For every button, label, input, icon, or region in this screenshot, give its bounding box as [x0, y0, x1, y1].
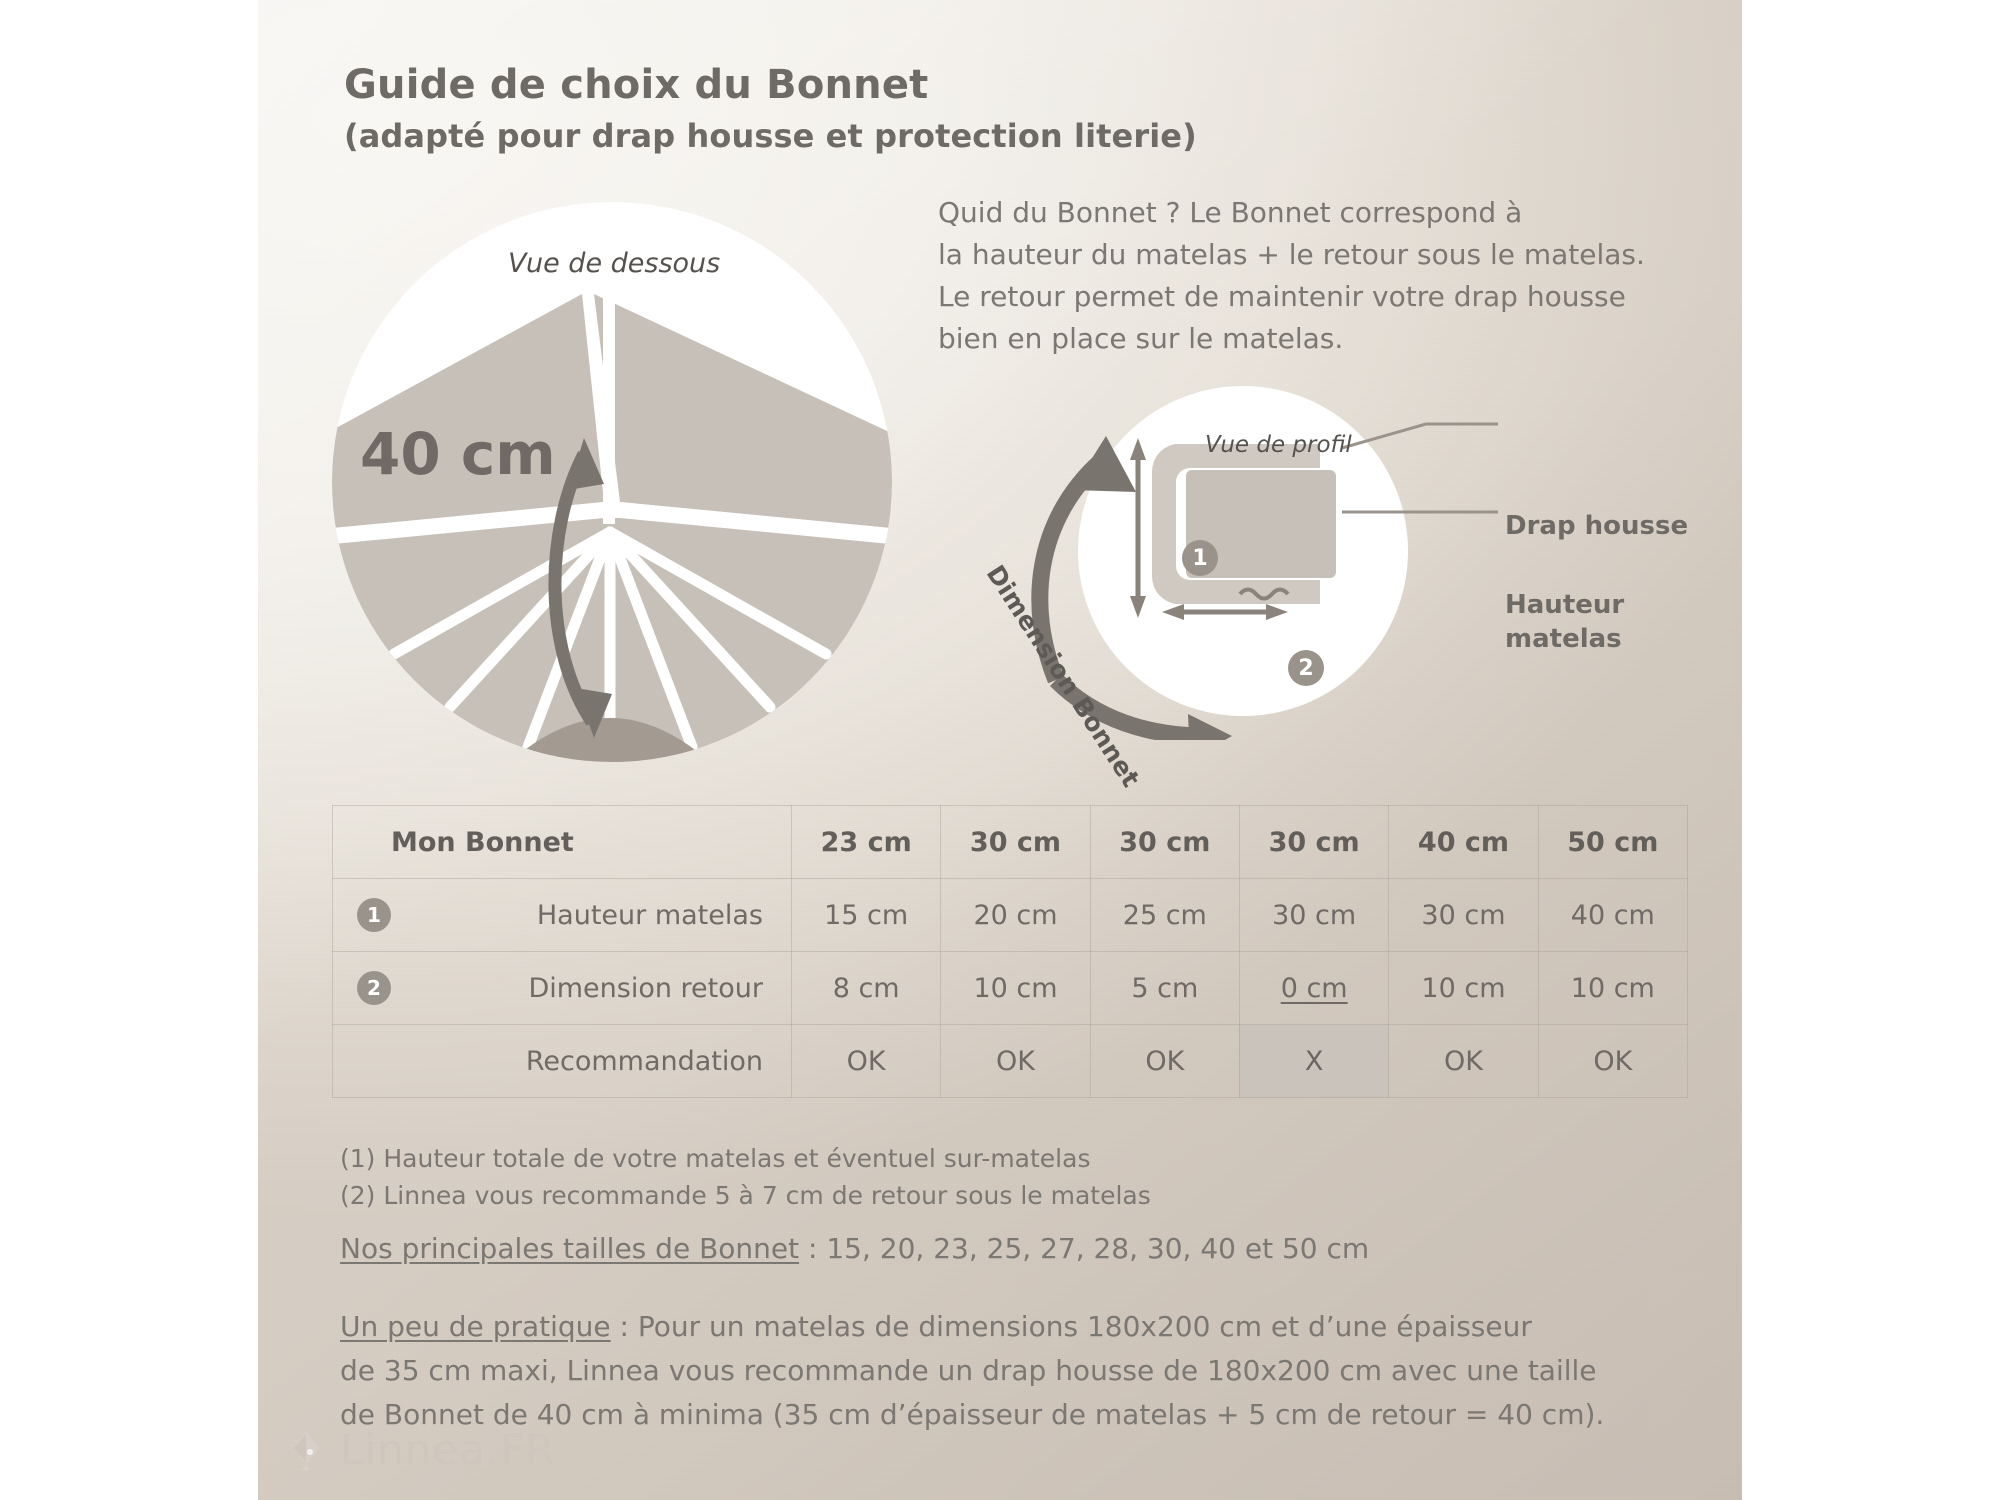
- sizes-line: Nos principales tailles de Bonnet : 15, …: [340, 1232, 1369, 1265]
- label-hauteur-line-2: matelas: [1505, 622, 1624, 656]
- profile-view-caption: Vue de profil: [1205, 432, 1352, 458]
- practice-label: Un peu de pratique: [340, 1310, 611, 1343]
- practice-block: Un peu de pratique : Pour un matelas de …: [340, 1305, 1604, 1437]
- table-cell: OK: [1538, 1025, 1687, 1098]
- table-cell: 30 cm: [1239, 879, 1388, 952]
- table-header-label: Mon Bonnet: [333, 806, 792, 879]
- table-cell: 30 cm: [1389, 879, 1538, 952]
- intro-line-3: Le retour permet de maintenir votre drap…: [938, 276, 1678, 318]
- page-title: Guide de choix du Bonnet: [344, 62, 929, 108]
- table-header-cell: 30 cm: [941, 806, 1090, 879]
- linnea-logo[interactable]: Linnea.FR: [286, 1425, 556, 1474]
- letterbox-left: [0, 0, 258, 1500]
- footnotes: (1) Hauteur totale de votre matelas et é…: [340, 1140, 1151, 1214]
- intro-line-2: la hauteur du matelas + le retour sous l…: [938, 234, 1678, 276]
- page-subtitle: (adapté pour drap housse et protection l…: [344, 117, 1197, 155]
- badge-1-profile: 1: [1182, 540, 1218, 576]
- practice-line-1: Un peu de pratique : Pour un matelas de …: [340, 1305, 1604, 1349]
- label-hauteur-line-1: Hauteur: [1505, 588, 1624, 622]
- footnote-2: (2) Linnea vous recommande 5 à 7 cm de r…: [340, 1177, 1151, 1214]
- bottom-view-caption: Vue de dessous: [508, 248, 720, 279]
- infographic-page: Guide de choix du Bonnet (adapté pour dr…: [0, 0, 2000, 1500]
- table-cell-highlighted: X: [1239, 1025, 1388, 1098]
- mattress-height-arrow: [1130, 438, 1146, 618]
- label-drap-housse: Drap housse: [1505, 509, 1688, 543]
- table-cell: 10 cm: [941, 952, 1090, 1025]
- intro-line-1: Quid du Bonnet ? Le Bonnet correspond à: [938, 192, 1678, 234]
- table-row: 2 Dimension retour 8 cm 10 cm 5 cm 0 cm …: [333, 952, 1688, 1025]
- underlined-value: 0 cm: [1281, 973, 1348, 1004]
- linnea-logo-icon: [286, 1428, 326, 1472]
- row-label-text: Dimension retour: [528, 973, 763, 1004]
- table-cell: 0 cm: [1239, 952, 1388, 1025]
- row-label-text: Hauteur matelas: [537, 900, 763, 931]
- table-cell: OK: [1090, 1025, 1239, 1098]
- badge-2-profile: 2: [1288, 650, 1324, 686]
- table-header-cell: 40 cm: [1389, 806, 1538, 879]
- sizes-label: Nos principales tailles de Bonnet: [340, 1232, 799, 1265]
- label-hauteur-matelas: Hauteur matelas: [1505, 588, 1624, 656]
- table-cell: 40 cm: [1538, 879, 1687, 952]
- table-header-cell: 30 cm: [1239, 806, 1388, 879]
- letterbox-right: [1742, 0, 2000, 1500]
- row-label-recommandation: Recommandation: [333, 1025, 792, 1098]
- table-row: Recommandation OK OK OK X OK OK: [333, 1025, 1688, 1098]
- table-cell: 15 cm: [792, 879, 941, 952]
- table-cell: 10 cm: [1389, 952, 1538, 1025]
- bonnet-measure-label: 40 cm: [360, 420, 556, 488]
- practice-line-2: de 35 cm maxi, Linnea vous recommande un…: [340, 1349, 1604, 1393]
- row-label-text: Recommandation: [526, 1046, 763, 1077]
- table-header-cell: 50 cm: [1538, 806, 1687, 879]
- badge-1-table: 1: [357, 898, 391, 932]
- table-cell: OK: [941, 1025, 1090, 1098]
- row-label-hauteur-matelas: 1 Hauteur matelas: [333, 879, 792, 952]
- row-label-dimension-retour: 2 Dimension retour: [333, 952, 792, 1025]
- table-cell: 25 cm: [1090, 879, 1239, 952]
- footnote-1: (1) Hauteur totale de votre matelas et é…: [340, 1140, 1151, 1177]
- table-cell: OK: [1389, 1025, 1538, 1098]
- table-cell: OK: [792, 1025, 941, 1098]
- table-cell: 20 cm: [941, 879, 1090, 952]
- table-cell: 5 cm: [1090, 952, 1239, 1025]
- practice-line-1-text: : Pour un matelas de dimensions 180x200 …: [611, 1310, 1532, 1343]
- intro-line-4: bien en place sur le matelas.: [938, 318, 1678, 360]
- table-header-cell: 30 cm: [1090, 806, 1239, 879]
- table-header-row: Mon Bonnet 23 cm 30 cm 30 cm 30 cm 40 cm…: [333, 806, 1688, 879]
- bonnet-table: Mon Bonnet 23 cm 30 cm 30 cm 30 cm 40 cm…: [332, 805, 1688, 1098]
- table-cell: 8 cm: [792, 952, 941, 1025]
- linnea-logo-text: Linnea.FR: [340, 1425, 556, 1474]
- table-cell: 10 cm: [1538, 952, 1687, 1025]
- sizes-value: : 15, 20, 23, 25, 27, 28, 30, 40 et 50 c…: [799, 1232, 1369, 1265]
- intro-paragraph: Quid du Bonnet ? Le Bonnet correspond à …: [938, 192, 1678, 360]
- leader-lines: [1342, 424, 1498, 512]
- table-row: 1 Hauteur matelas 15 cm 20 cm 25 cm 30 c…: [333, 879, 1688, 952]
- table-header-cell: 23 cm: [792, 806, 941, 879]
- badge-2-table: 2: [357, 971, 391, 1005]
